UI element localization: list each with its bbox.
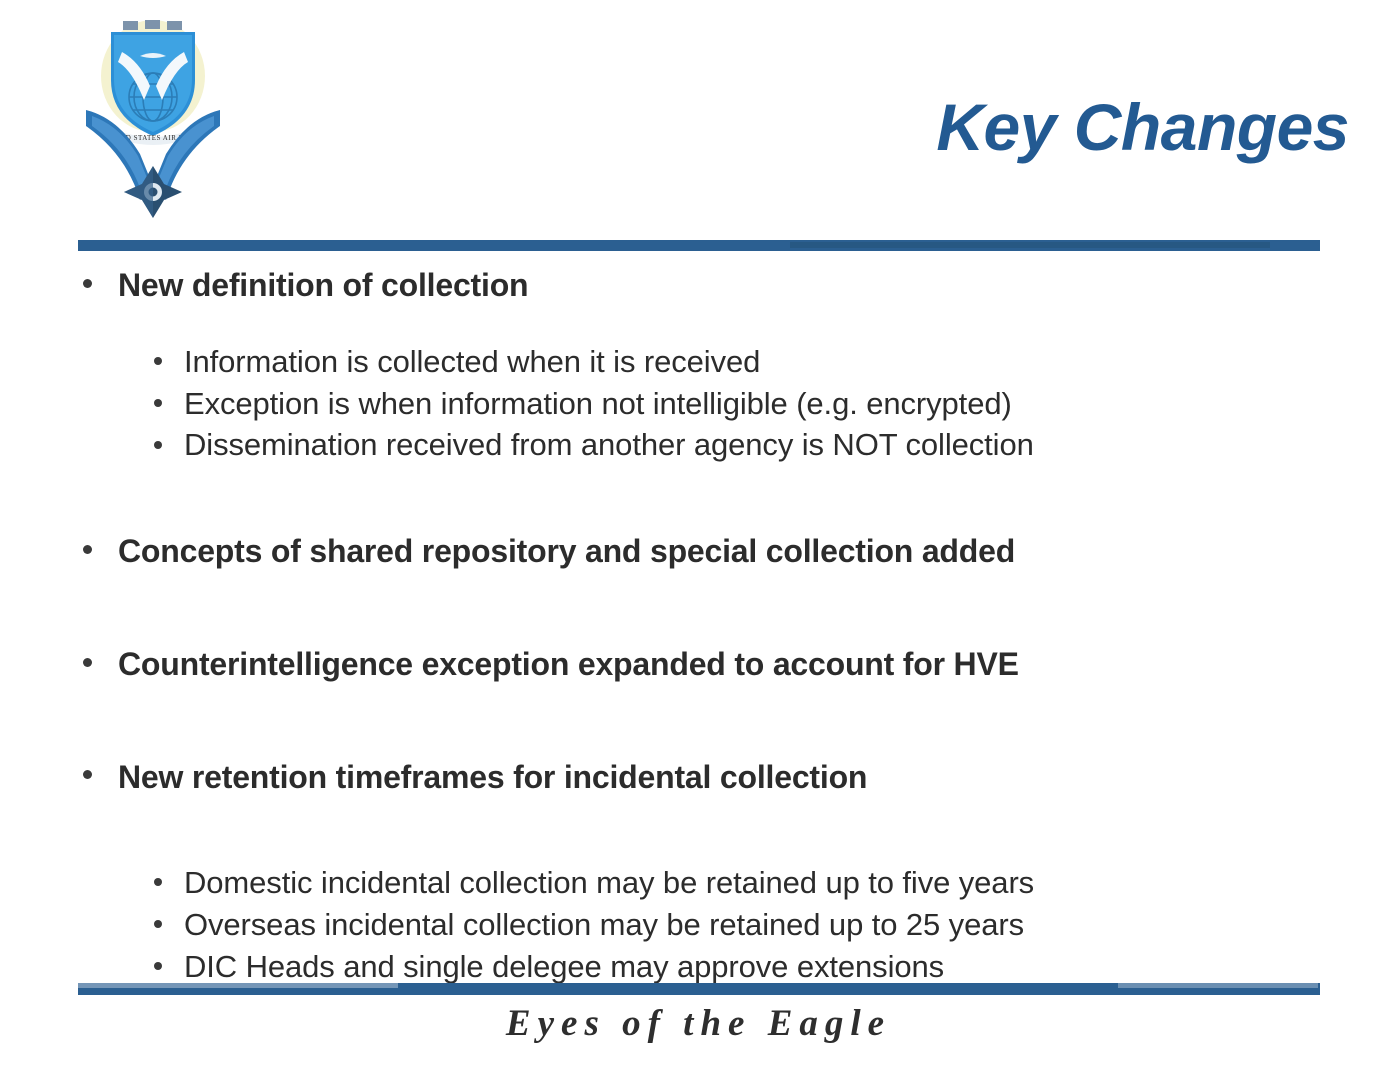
bullet-level2: Dissemination received from another agen… — [0, 429, 1397, 461]
bullet-level2: Information is collected when it is rece… — [0, 346, 1397, 378]
bullet-level1: New definition of collection — [0, 269, 1397, 302]
bullet-text: DIC Heads and single delegee may approve… — [184, 949, 944, 984]
bullet-level2: DIC Heads and single delegee may approve… — [0, 951, 1397, 983]
bullet-marker-icon — [154, 357, 162, 365]
bullet-text: Information is collected when it is rece… — [184, 344, 760, 379]
spacer — [0, 793, 1397, 837]
spacer — [0, 725, 1397, 761]
slide-header: UNITED STATES AIR FORCE Key Changes — [0, 0, 1397, 240]
spacer — [0, 612, 1397, 648]
bullet-marker-icon — [154, 962, 162, 970]
bullet-text: Dissemination received from another agen… — [184, 427, 1034, 462]
bullet-text: Exception is when information not intell… — [184, 386, 1012, 421]
bullet-text: Concepts of shared repository and specia… — [118, 533, 1015, 569]
bullet-marker-icon — [83, 770, 92, 779]
spacer — [0, 837, 1397, 867]
header-divider-rule — [78, 240, 1320, 251]
bullet-marker-icon — [83, 658, 92, 667]
bullet-marker-icon — [83, 545, 92, 554]
bullet-level2: Domestic incidental collection may be re… — [0, 867, 1397, 899]
spacer — [0, 505, 1397, 535]
bullet-level1: Counterintelligence exception expanded t… — [0, 648, 1397, 681]
footer-divider-rule — [78, 983, 1320, 995]
bullet-text: Domestic incidental collection may be re… — [184, 865, 1034, 900]
slide-content: New definition of collection Information… — [0, 251, 1397, 971]
bullet-marker-icon — [154, 399, 162, 407]
page-title: Key Changes — [936, 94, 1349, 160]
bullet-level1: New retention timeframes for incidental … — [0, 761, 1397, 794]
bullet-marker-icon — [154, 441, 162, 449]
slide-footer: Eyes of the Eagle — [0, 1002, 1397, 1045]
bullet-marker-icon — [154, 920, 162, 928]
bullet-text: New definition of collection — [118, 267, 528, 303]
bullet-marker-icon — [154, 878, 162, 886]
spacer — [0, 461, 1397, 505]
bullet-level2: Exception is when information not intell… — [0, 388, 1397, 420]
spacer — [0, 681, 1397, 725]
spacer — [0, 568, 1397, 612]
bullet-marker-icon — [83, 279, 92, 288]
bullet-text: Overseas incidental collection may be re… — [184, 907, 1024, 942]
bullet-level2: Overseas incidental collection may be re… — [0, 909, 1397, 941]
footer-tagline: Eyes of the Eagle — [506, 1003, 891, 1044]
us-air-force-emblem: UNITED STATES AIR FORCE — [78, 14, 228, 224]
bullet-text: New retention timeframes for incidental … — [118, 759, 867, 795]
spacer — [0, 302, 1397, 346]
bullet-level1: Concepts of shared repository and specia… — [0, 535, 1397, 568]
bullet-text: Counterintelligence exception expanded t… — [118, 646, 1019, 682]
